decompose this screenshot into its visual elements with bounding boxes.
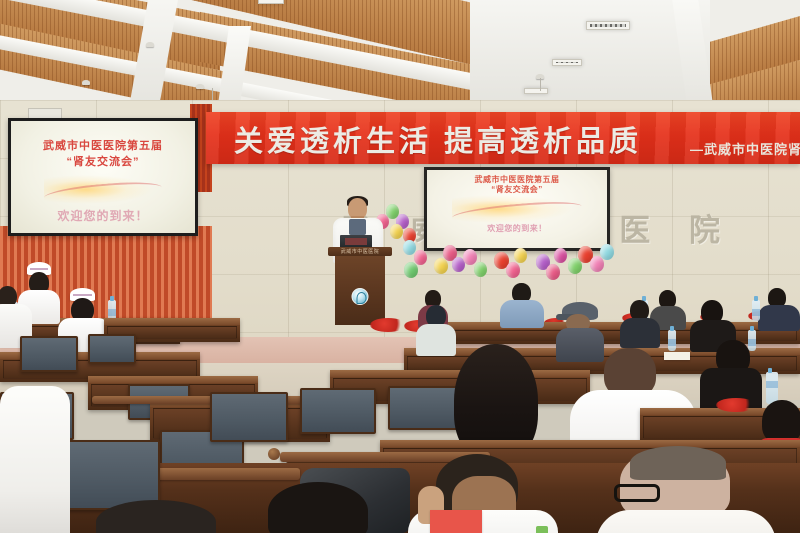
desk-surface xyxy=(432,322,800,329)
foreground-person-head xyxy=(96,500,216,533)
person-hair xyxy=(268,482,368,533)
wall-char: 医 xyxy=(619,205,650,250)
flower-arrangement xyxy=(716,398,756,412)
projection-screen-left: 武威市中医医院第五届 “肾友交流会” 欢迎您的到来！ xyxy=(8,118,198,236)
podium-front-panel: 武威市中医医院 xyxy=(335,256,385,325)
ceiling-light-icon xyxy=(258,0,284,4)
foreground-person-reading xyxy=(408,458,558,533)
empty-seat xyxy=(20,336,78,372)
balloon xyxy=(390,224,403,239)
balloon xyxy=(403,240,416,255)
sprinkler-icon xyxy=(82,80,90,85)
speaker-inner-shirt xyxy=(349,219,366,235)
balloon xyxy=(414,250,427,265)
flower-arrangement xyxy=(370,318,406,332)
badge-icon xyxy=(536,526,548,533)
sprinkler-icon xyxy=(196,84,204,89)
balloon xyxy=(554,248,567,263)
person-torso xyxy=(500,300,544,328)
banner-main-text: 关爱透析生活 提高透析品质 xyxy=(234,118,642,160)
foreground-person-glasses xyxy=(596,448,776,533)
hospital-emblem-icon xyxy=(352,288,369,305)
slide-welcome-text: 欢迎您的到来！ xyxy=(427,223,607,234)
glasses-icon xyxy=(614,484,660,502)
nurse-uniform xyxy=(0,386,70,533)
projection-screen-left-surface: 武威市中医医院第五届 “肾友交流会” 欢迎您的到来！ xyxy=(11,121,195,233)
audience-person xyxy=(758,288,800,328)
person-torso xyxy=(620,318,660,348)
slide-title-line1: 武威市中医医院第五届 xyxy=(11,137,195,153)
person-hair xyxy=(96,500,216,533)
water-bottle-icon xyxy=(752,300,760,321)
balloon xyxy=(546,264,560,280)
ceiling-light-icon xyxy=(586,21,630,30)
bench-knob xyxy=(268,448,280,460)
balloon xyxy=(600,244,614,260)
slide-graphic xyxy=(452,193,582,224)
audience-person xyxy=(620,300,660,346)
papers-icon xyxy=(430,510,482,533)
slide-graphic xyxy=(44,173,162,207)
event-banner: 关爱透析生活 提高透析品质 —武威市中医院肾 xyxy=(206,112,800,164)
balloon xyxy=(404,262,418,278)
balloon xyxy=(514,248,527,263)
nurse-foreground xyxy=(0,386,70,533)
person-torso xyxy=(596,510,776,533)
light-wire xyxy=(540,78,541,91)
projection-screen-center-surface: 武威市中医医院第五届 “肾友交流会” 欢迎您的到来！ xyxy=(427,170,607,248)
audience-person xyxy=(500,283,544,325)
slide-welcome-text: 欢迎您的到来！ xyxy=(11,207,195,224)
balloon xyxy=(434,258,448,274)
person-hair xyxy=(630,446,726,480)
wall-char: 院 xyxy=(689,205,720,250)
balloon xyxy=(506,262,520,278)
ceiling-light-icon xyxy=(552,59,582,66)
podium: 武威市中医医院 xyxy=(328,247,392,325)
conference-hall-photo: 武 威 市 中 医 院 关爱透析生活 提高透析品质 —武威市中医院肾 武威市中医… xyxy=(0,0,800,533)
slide-title-line2: “肾友交流会” xyxy=(427,184,607,195)
banner-attribution: —武威市中医院肾 xyxy=(690,139,800,158)
sprinkler-icon xyxy=(146,42,154,47)
slide-title-line2: “肾友交流会” xyxy=(11,153,195,169)
person-torso xyxy=(758,305,800,331)
desk-surface xyxy=(380,440,800,447)
ceiling-light-icon xyxy=(524,88,548,94)
podium-name-plate: 武威市中医医院 xyxy=(335,248,385,255)
desk-surface xyxy=(104,318,240,325)
empty-seat xyxy=(210,392,288,442)
balloon xyxy=(463,249,477,265)
desk-surface xyxy=(88,376,258,383)
projection-screen-center: 武威市中医医院第五届 “肾友交流会” 欢迎您的到来！ xyxy=(424,167,610,251)
balloon xyxy=(474,262,487,277)
foreground-person-head xyxy=(268,482,368,533)
ceiling xyxy=(0,0,800,112)
empty-seat xyxy=(300,388,376,434)
empty-seat xyxy=(88,334,136,364)
